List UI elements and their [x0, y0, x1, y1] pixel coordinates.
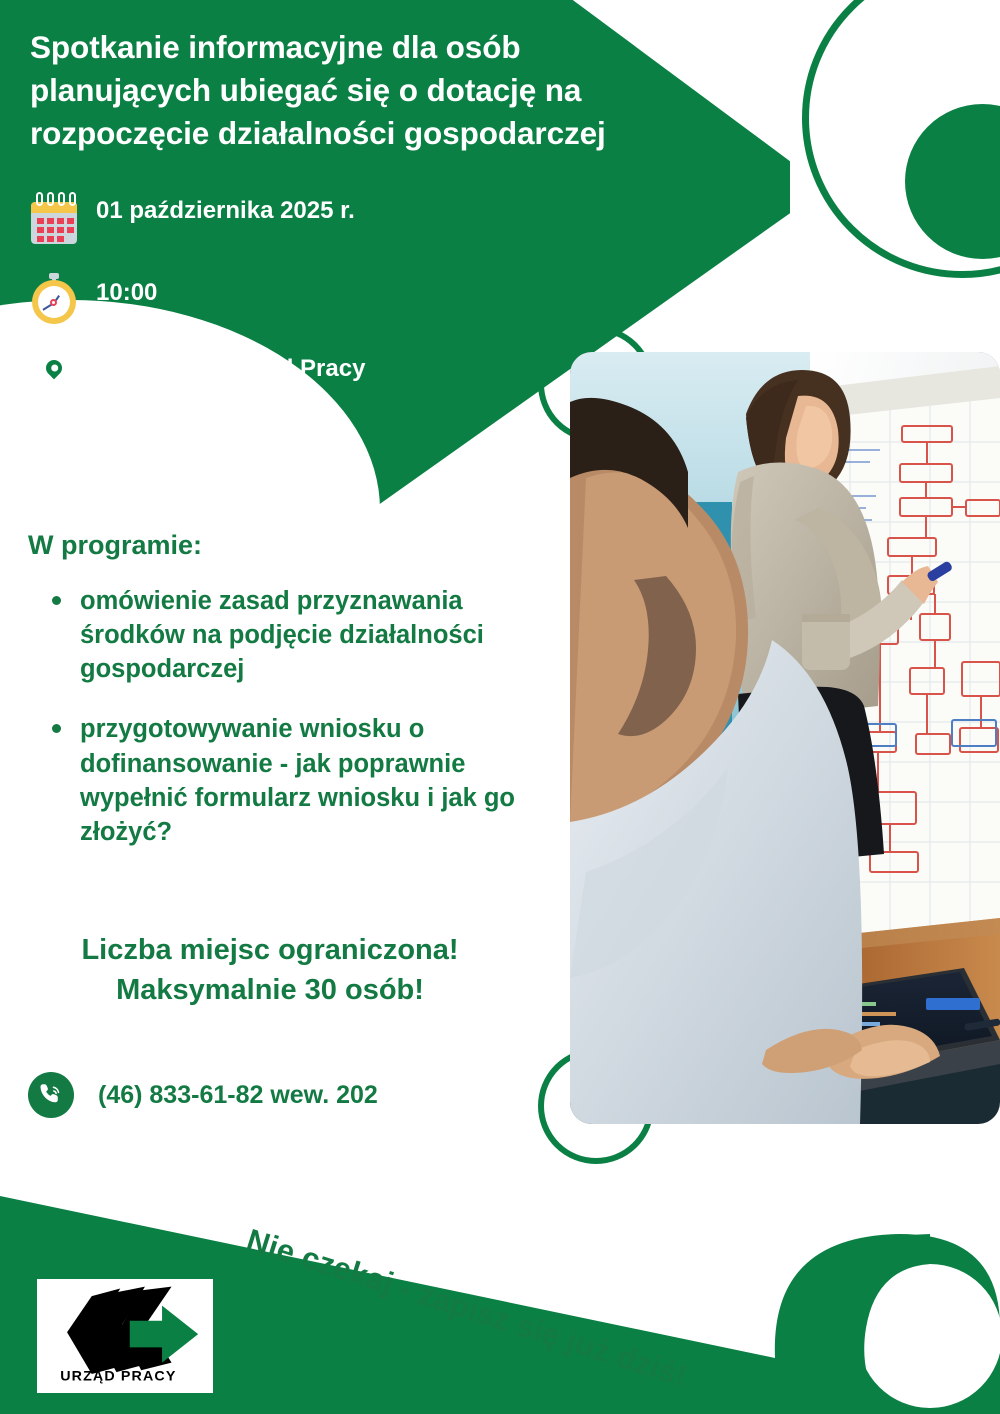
stopwatch-icon — [28, 272, 80, 324]
page-title: Spotkanie informacyjne dla osób planując… — [30, 26, 670, 154]
phone-number: (46) 833-61-82 wew. 202 — [98, 1081, 378, 1110]
urzad-pracy-logo: URZĄD PRACY — [34, 1276, 216, 1396]
phone-icon — [28, 1072, 74, 1118]
location-pin-icon — [28, 348, 80, 400]
detail-row-location: Powiatowy Urząd Pracy w Skierniewicach — [28, 348, 365, 415]
poster: Spotkanie informacyjne dla osób planując… — [0, 0, 1000, 1414]
contact-row: (46) 833-61-82 wew. 202 — [28, 1072, 378, 1118]
list-item: przygotowywanie wniosku o dofinansowanie… — [44, 712, 544, 849]
list-item: omówienie zasad przyznawania środków na … — [44, 584, 544, 686]
event-photo-illustration — [570, 352, 1000, 1124]
event-date: 01 października 2025 r. — [96, 190, 355, 227]
event-photo — [570, 352, 1000, 1124]
calendar-icon — [28, 190, 80, 246]
detail-row-date: 01 października 2025 r. — [28, 190, 355, 246]
detail-row-time: 10:00 — [28, 272, 157, 324]
program-list: omówienie zasad przyznawania środków na … — [44, 584, 544, 875]
event-location: Powiatowy Urząd Pracy w Skierniewicach — [96, 348, 365, 415]
phone-icon-glyph — [36, 1080, 66, 1110]
program-heading: W programie: — [28, 530, 202, 561]
limit-notice: Liczba miejsc ograniczona! Maksymalnie 3… — [0, 930, 540, 1010]
event-time: 10:00 — [96, 272, 157, 309]
logo-caption: URZĄD PRACY — [60, 1369, 176, 1385]
urzad-pracy-logo-mark: URZĄD PRACY — [37, 1279, 213, 1393]
